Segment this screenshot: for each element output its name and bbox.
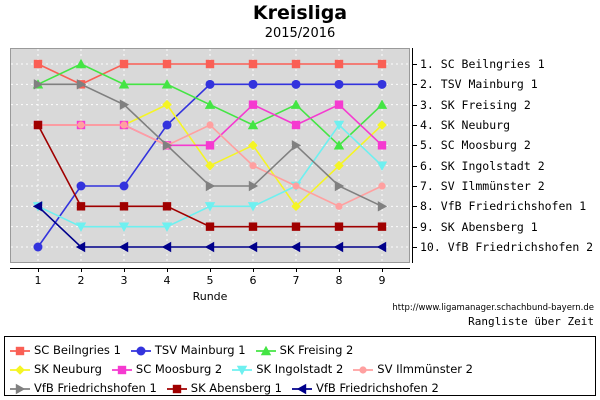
rank-axis-tick (412, 186, 417, 187)
chart-caption: Rangliste über Zeit (468, 315, 594, 328)
data-point (335, 100, 343, 108)
legend-marker-icon (9, 343, 31, 357)
legend-item[interactable]: SC Beilngries 1 (9, 343, 121, 357)
rank-axis-label: 2. TSV Mainburg 1 (420, 77, 538, 91)
legend-marker-icon (111, 362, 133, 376)
legend-label: SK Freising 2 (280, 343, 354, 357)
data-point (120, 121, 127, 128)
chart-subtitle: 2015/2016 (0, 26, 600, 41)
legend-row: SC Beilngries 1TSV Mainburg 1SK Freising… (9, 340, 591, 359)
data-point (163, 202, 171, 210)
rank-axis-tick (412, 145, 417, 146)
rank-axis-tick (412, 64, 417, 65)
data-point (249, 222, 257, 230)
legend-label: VfB Friedrichshofen 1 (34, 381, 157, 395)
legend-label: SC Beilngries 1 (34, 343, 121, 357)
rank-axis-tick (412, 84, 417, 85)
rank-axis-label: 5. SC Moosburg 2 (420, 138, 531, 152)
data-point (335, 80, 344, 89)
data-point (335, 222, 343, 230)
legend-item[interactable]: SK Freising 2 (255, 343, 354, 357)
data-point (378, 80, 387, 89)
legend-marker-icon (9, 381, 31, 395)
rank-axis-tick (412, 206, 417, 207)
data-point (34, 121, 42, 129)
legend-label: TSV Mainburg 1 (155, 343, 246, 357)
legend-marker-icon (352, 362, 374, 376)
x-axis-tick-label: 1 (35, 274, 42, 287)
legend-row: SK NeuburgSC Moosburg 2SK Ingolstadt 2SV… (9, 359, 591, 378)
data-point (378, 141, 386, 149)
x-axis-tick-label: 3 (121, 274, 128, 287)
plot-area (10, 48, 410, 263)
data-point (378, 60, 386, 68)
legend-item[interactable]: SC Moosburg 2 (111, 362, 222, 376)
data-point (77, 182, 86, 191)
data-point (206, 121, 213, 128)
legend-marker-icon (291, 381, 313, 395)
legend-label: SK Ingolstadt 2 (256, 362, 343, 376)
rank-axis-tick (412, 227, 417, 228)
x-axis-tick-label: 2 (78, 274, 85, 287)
legend-item[interactable]: TSV Mainburg 1 (130, 343, 246, 357)
data-point (249, 162, 256, 169)
x-axis-tick-label: 4 (164, 274, 171, 287)
data-point (249, 60, 257, 68)
data-point (335, 203, 342, 210)
data-point (292, 60, 300, 68)
legend-item[interactable]: SV Ilmmünster 2 (352, 362, 473, 376)
source-url: http://www.ligamanager.schachbund-bayern… (392, 303, 594, 313)
rank-axis-label: 10. VfB Friedrichshofen 2 (420, 240, 593, 254)
data-point (77, 121, 84, 128)
legend-marker-icon (231, 362, 253, 376)
data-point (292, 222, 300, 230)
rank-axis-tick (412, 166, 417, 167)
data-point (377, 99, 387, 108)
legend-marker-icon (130, 343, 152, 357)
rank-axis-label: 1. SC Beilngries 1 (420, 57, 545, 71)
x-axis-tick-label: 6 (250, 274, 257, 287)
x-axis-tick-label: 5 (207, 274, 214, 287)
data-point (249, 80, 258, 89)
rank-axis-label: 9. SK Abensberg 1 (420, 220, 538, 234)
legend-marker-icon (9, 362, 31, 376)
rank-axis-label: 8. VfB Friedrichshofen 1 (420, 199, 586, 213)
data-point (120, 202, 128, 210)
x-axis-tick (296, 268, 297, 272)
x-axis-label: Runde (10, 290, 410, 303)
legend-label: SV Ilmmünster 2 (377, 362, 473, 376)
rank-axis-line (412, 48, 413, 263)
data-point (206, 141, 214, 149)
chart-title: Kreisliga (0, 2, 600, 24)
x-axis-tick-label: 9 (379, 274, 386, 287)
data-point (292, 182, 299, 189)
data-point (335, 60, 343, 68)
legend-item[interactable]: VfB Friedrichshofen 1 (9, 381, 157, 395)
legend-item[interactable]: VfB Friedrichshofen 2 (291, 381, 439, 395)
rank-axis-tick (412, 125, 417, 126)
data-point (206, 80, 215, 89)
data-point (378, 222, 386, 230)
rank-axis-label: 6. SK Ingolstadt 2 (420, 159, 545, 173)
data-point (205, 161, 215, 171)
legend-label: SK Abensberg 1 (191, 381, 282, 395)
x-axis-tick (253, 268, 254, 272)
legend: SC Beilngries 1TSV Mainburg 1SK Freising… (4, 336, 596, 396)
data-point (120, 182, 129, 191)
x-axis-tick (167, 268, 168, 272)
x-axis-tick (210, 268, 211, 272)
legend-label: SK Neuburg (34, 362, 102, 376)
data-point (248, 141, 258, 151)
rank-axis-tick (412, 105, 417, 106)
rank-axis-label: 7. SV Ilmmünster 2 (420, 179, 545, 193)
rank-axis-tick (412, 247, 417, 248)
data-point (120, 60, 128, 68)
legend-label: VfB Friedrichshofen 2 (316, 381, 439, 395)
data-point (77, 202, 85, 210)
rank-axis-label: 3. SK Freising 2 (420, 98, 531, 112)
legend-marker-icon (255, 343, 277, 357)
x-axis-tick (38, 268, 39, 272)
x-axis-tick (124, 268, 125, 272)
plot-canvas (10, 48, 410, 263)
data-point (163, 121, 172, 130)
data-point (163, 60, 171, 68)
rank-axis: 1. SC Beilngries 1 2. TSV Mainburg 1 3. … (412, 48, 600, 263)
data-point (206, 222, 214, 230)
data-point (378, 182, 385, 189)
x-axis-tick-label: 7 (293, 274, 300, 287)
data-point (206, 60, 214, 68)
legend-item[interactable]: SK Ingolstadt 2 (231, 362, 343, 376)
legend-row: VfB Friedrichshofen 1SK Abensberg 1VfB F… (9, 378, 591, 397)
data-point (34, 243, 43, 252)
data-point (162, 100, 172, 110)
legend-item[interactable]: SK Abensberg 1 (166, 381, 282, 395)
legend-item[interactable]: SK Neuburg (9, 362, 102, 376)
x-axis-tick (81, 268, 82, 272)
data-point (292, 121, 300, 129)
rank-axis-label: 4. SK Neuburg (420, 118, 510, 132)
data-point (292, 80, 301, 89)
x-axis-tick-label: 8 (336, 274, 343, 287)
legend-label: SC Moosburg 2 (136, 362, 222, 376)
data-point (377, 161, 387, 170)
x-axis-tick (339, 268, 340, 272)
data-point (34, 60, 42, 68)
data-point (249, 100, 257, 108)
x-axis-tick (382, 268, 383, 272)
legend-marker-icon (166, 381, 188, 395)
